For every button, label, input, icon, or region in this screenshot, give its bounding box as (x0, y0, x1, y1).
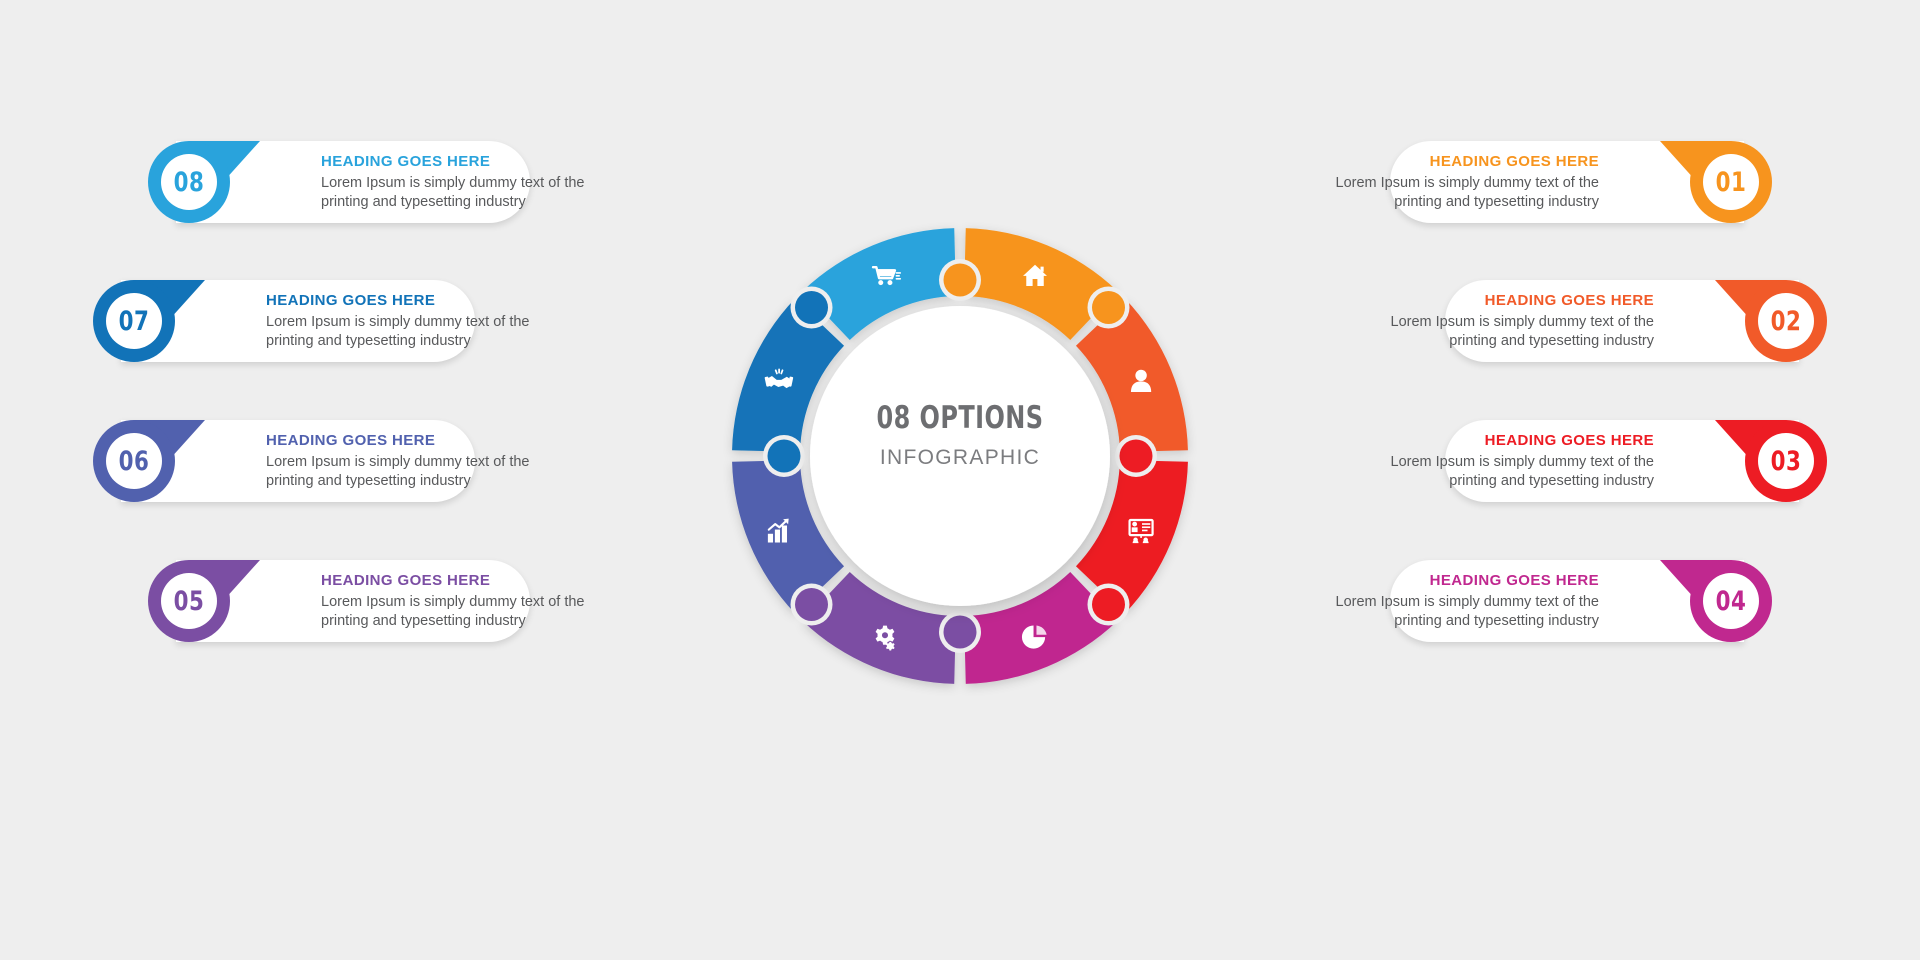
option-number-badge-01[interactable]: 01 (1654, 141, 1772, 223)
puzzle-knob (768, 440, 801, 473)
puzzle-knob (1092, 291, 1125, 324)
option-body-line1-08: Lorem Ipsum is simply dummy text of the (321, 174, 585, 193)
option-body-line2-01: printing and typesetting industry (1394, 193, 1599, 212)
option-card-06[interactable]: HEADING GOES HERELorem Ipsum is simply d… (75, 420, 475, 502)
option-body-line2-04: printing and typesetting industry (1394, 612, 1599, 631)
option-heading-06: HEADING GOES HERE (266, 432, 435, 450)
option-heading-02: HEADING GOES HERE (1485, 292, 1654, 310)
option-card-03[interactable]: HEADING GOES HERELorem Ipsum is simply d… (1445, 420, 1845, 502)
puzzle-knob (795, 291, 828, 324)
puzzle-knob (944, 616, 977, 649)
option-body-line1-01: Lorem Ipsum is simply dummy text of the (1336, 174, 1600, 193)
option-number-badge-03[interactable]: 03 (1709, 420, 1827, 502)
option-card-02[interactable]: HEADING GOES HERELorem Ipsum is simply d… (1445, 280, 1845, 362)
option-heading-07: HEADING GOES HERE (266, 292, 435, 310)
option-body-line2-07: printing and typesetting industry (266, 332, 471, 351)
option-card-01[interactable]: HEADING GOES HERELorem Ipsum is simply d… (1390, 141, 1790, 223)
puzzle-knob (1092, 588, 1125, 621)
option-body-line2-03: printing and typesetting industry (1449, 472, 1654, 491)
option-heading-04: HEADING GOES HERE (1430, 572, 1599, 590)
option-body-line2-05: printing and typesetting industry (321, 612, 526, 631)
option-number-badge-04[interactable]: 04 (1654, 560, 1772, 642)
option-heading-03: HEADING GOES HERE (1485, 432, 1654, 450)
option-body-line1-03: Lorem Ipsum is simply dummy text of the (1391, 453, 1655, 472)
option-heading-01: HEADING GOES HERE (1430, 153, 1599, 171)
option-card-07[interactable]: HEADING GOES HERELorem Ipsum is simply d… (75, 280, 475, 362)
wheel-center-disc (810, 306, 1110, 606)
option-body-line1-04: Lorem Ipsum is simply dummy text of the (1336, 593, 1600, 612)
infographic-canvas: 08 OPTIONS INFOGRAPHIC HEADING GOES HERE… (0, 0, 1920, 960)
option-body-line2-02: printing and typesetting industry (1449, 332, 1654, 351)
option-heading-05: HEADING GOES HERE (321, 572, 490, 590)
puzzle-wheel-svg (672, 168, 1248, 744)
option-body-line2-08: printing and typesetting industry (321, 193, 526, 212)
option-card-08[interactable]: HEADING GOES HERELorem Ipsum is simply d… (130, 141, 530, 223)
puzzle-wheel: 08 OPTIONS INFOGRAPHIC (672, 168, 1248, 744)
puzzle-knob (944, 264, 977, 297)
puzzle-knob (1120, 440, 1153, 473)
puzzle-knob (795, 588, 828, 621)
option-number-badge-07[interactable]: 07 (93, 280, 211, 362)
option-body-line1-02: Lorem Ipsum is simply dummy text of the (1391, 313, 1655, 332)
option-number-badge-08[interactable]: 08 (148, 141, 266, 223)
option-heading-08: HEADING GOES HERE (321, 153, 490, 171)
option-number-badge-06[interactable]: 06 (93, 420, 211, 502)
option-body-line1-07: Lorem Ipsum is simply dummy text of the (266, 313, 530, 332)
option-number-badge-05[interactable]: 05 (148, 560, 266, 642)
option-body-line1-06: Lorem Ipsum is simply dummy text of the (266, 453, 530, 472)
option-number-badge-02[interactable]: 02 (1709, 280, 1827, 362)
option-body-line1-05: Lorem Ipsum is simply dummy text of the (321, 593, 585, 612)
option-card-05[interactable]: HEADING GOES HERELorem Ipsum is simply d… (130, 560, 530, 642)
option-body-line2-06: printing and typesetting industry (266, 472, 471, 491)
option-card-04[interactable]: HEADING GOES HERELorem Ipsum is simply d… (1390, 560, 1790, 642)
